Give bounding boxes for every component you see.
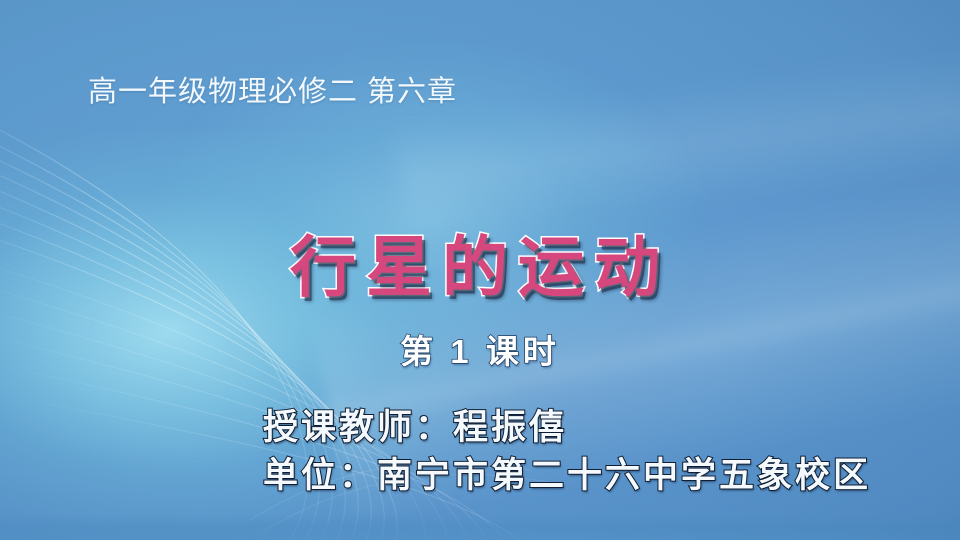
- course-header-text: 高一年级物理必修二 第六章: [88, 68, 457, 110]
- page-title: 行星的运动: [0, 214, 960, 310]
- credits-block: 授课教师：程振僖 单位：南宁市第二十六中学五象校区: [263, 404, 871, 500]
- teacher-line: 授课教师：程振僖: [263, 404, 871, 452]
- presentation-slide: 高一年级物理必修二 第六章 行星的运动 第 1 课时 授课教师：程振僖 单位：南…: [0, 0, 960, 540]
- background-bottom-band: [0, 514, 960, 540]
- lesson-subtitle: 第 1 课时: [0, 325, 960, 373]
- school-line: 单位：南宁市第二十六中学五象校区: [263, 452, 871, 500]
